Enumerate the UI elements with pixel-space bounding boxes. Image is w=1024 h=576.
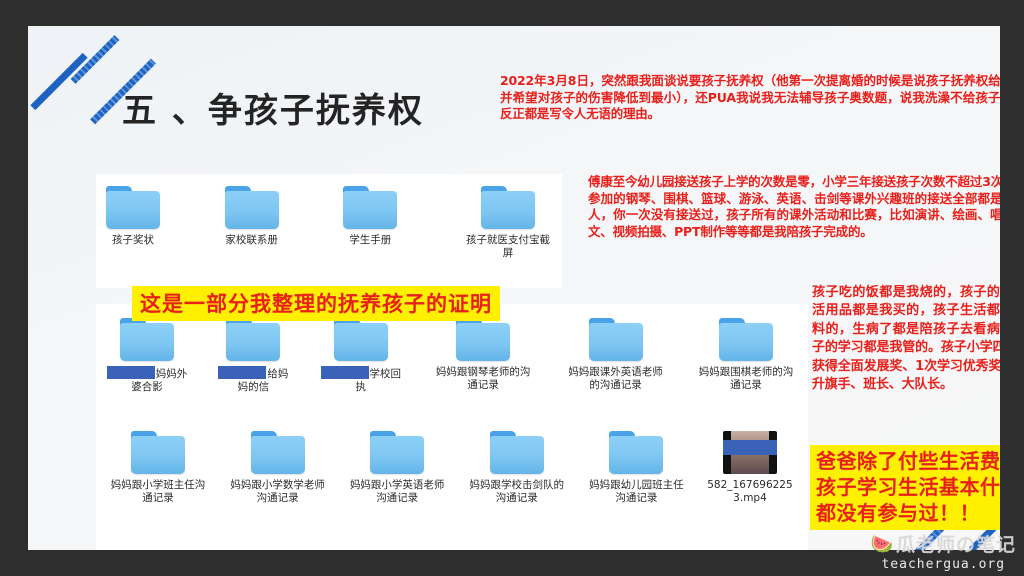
folder-icon — [589, 318, 643, 361]
file-label: 妈妈跟小学英语老师沟通记录 — [345, 479, 449, 505]
folder-icon — [334, 318, 388, 361]
folder-body — [106, 191, 160, 229]
folder-body — [456, 323, 510, 361]
folder-body — [609, 436, 663, 474]
folder-body — [343, 191, 397, 229]
file-label: 妈妈跟学校击剑队的沟通记录 — [465, 479, 569, 505]
file-label: 582_1676962253.mp4 — [704, 479, 796, 505]
page-title: 五 、争孩子抚养权 — [122, 83, 424, 132]
file-label: 学生手册 — [349, 234, 391, 247]
file-item-folder[interactable]: 给妈妈的信 — [216, 318, 290, 394]
highlight-bottom: 爸爸除了付些生活费，孩子学习生活基本什么都没有参与过！！ — [810, 445, 1000, 530]
file-row-3: 妈妈跟小学班主任沟通记录妈妈跟小学数学老师沟通记录妈妈跟小学英语老师沟通记录妈妈… — [106, 431, 796, 505]
file-label: 妈妈外婆合影 — [106, 366, 188, 394]
watermelon-icon: 🍉 — [871, 535, 893, 553]
folder-body — [589, 323, 643, 361]
folder-body — [370, 436, 424, 474]
slide-canvas: 五 、争孩子抚养权 2022年3月8日，突然跟我面谈说要孩子抚养权（他第一次提离… — [28, 26, 1000, 550]
watermark-name: 瓜老师の笔记 — [896, 530, 1016, 557]
decorative-stripe-icon — [30, 53, 87, 110]
file-item-folder[interactable]: 家校联系册 — [225, 186, 279, 260]
folder-icon — [490, 431, 544, 474]
file-label: 妈妈跟围棋老师的沟通记录 — [696, 366, 796, 392]
folder-body — [251, 436, 305, 474]
annotation-note-2: 傅康至今幼儿园接送孩子上学的次数是零，小学三年接送孩子次数不超过3次，孩子参加的… — [588, 174, 1000, 240]
folder-icon — [131, 431, 185, 474]
folder-body — [226, 323, 280, 361]
redaction-bar — [107, 366, 155, 379]
folder-icon — [120, 318, 174, 361]
file-row-1: 孩子奖状家校联系册学生手册孩子就医支付宝截屏 — [106, 186, 554, 260]
file-item-folder[interactable]: 妈妈跟小学数学老师沟通记录 — [226, 431, 330, 505]
folder-icon — [251, 431, 305, 474]
file-item-folder[interactable]: 学校回执 — [319, 318, 403, 394]
folder-body — [225, 191, 279, 229]
folder-body — [334, 323, 388, 361]
file-item-folder[interactable]: 妈妈跟学校击剑队的沟通记录 — [465, 431, 569, 505]
file-label: 给妈妈的信 — [216, 366, 290, 394]
folder-icon — [225, 186, 279, 229]
highlight-banner: 这是一部分我整理的抚养孩子的证明 — [132, 286, 500, 321]
file-item-folder[interactable]: 妈妈跟课外英语老师的沟通记录 — [564, 318, 668, 394]
file-item-video[interactable]: 582_1676962253.mp4 — [704, 431, 796, 505]
annotation-note-1: 2022年3月8日，突然跟我面谈说要孩子抚养权（他第一次提离婚的时候是说孩子抚养… — [500, 73, 1000, 123]
annotation-note-3: 孩子吃的饭都是我烧的，孩子的学习生活用品都是我买的，孩子生活都是我照料的，生病了… — [812, 284, 1000, 395]
folder-icon — [609, 431, 663, 474]
folder-body — [131, 436, 185, 474]
watermark-url: teachergua.org — [871, 557, 1016, 572]
redaction-bar — [321, 366, 369, 379]
file-label: 妈妈跟钢琴老师的沟通记录 — [431, 366, 535, 392]
file-item-folder[interactable]: 妈妈跟围棋老师的沟通记录 — [696, 318, 796, 394]
file-item-folder[interactable]: 妈妈跟幼儿园班主任沟通记录 — [584, 431, 688, 505]
file-label: 孩子就医支付宝截屏 — [462, 234, 554, 260]
file-item-folder[interactable]: 妈妈跟小学班主任沟通记录 — [106, 431, 210, 505]
file-item-folder[interactable]: 孩子奖状 — [106, 186, 160, 260]
folder-icon — [456, 318, 510, 361]
file-item-folder[interactable]: 妈妈外婆合影 — [106, 318, 188, 394]
folder-icon — [106, 186, 160, 229]
file-label: 家校联系册 — [225, 234, 278, 247]
file-label: 妈妈跟幼儿园班主任沟通记录 — [584, 479, 688, 505]
screenshot-stage: 五 、争孩子抚养权 2022年3月8日，突然跟我面谈说要孩子抚养权（他第一次提离… — [0, 0, 1024, 576]
file-item-folder[interactable]: 学生手册 — [343, 186, 397, 260]
watermark: 🍉 瓜老师の笔记 teachergua.org — [871, 530, 1016, 572]
folder-icon — [226, 318, 280, 361]
folder-icon — [370, 431, 424, 474]
folder-body — [120, 323, 174, 361]
folder-body — [490, 436, 544, 474]
video-thumbnail-icon — [723, 431, 777, 474]
redaction-bar — [723, 440, 777, 455]
file-label: 妈妈跟课外英语老师的沟通记录 — [564, 366, 668, 392]
file-item-folder[interactable]: 妈妈跟钢琴老师的沟通记录 — [431, 318, 535, 394]
file-label: 孩子奖状 — [112, 234, 154, 247]
folder-body — [719, 323, 773, 361]
file-row-2: 妈妈外婆合影给妈妈的信学校回执妈妈跟钢琴老师的沟通记录妈妈跟课外英语老师的沟通记… — [106, 318, 796, 394]
file-item-folder[interactable]: 孩子就医支付宝截屏 — [462, 186, 554, 260]
file-label: 妈妈跟小学班主任沟通记录 — [106, 479, 210, 505]
folder-icon — [343, 186, 397, 229]
file-item-folder[interactable]: 妈妈跟小学英语老师沟通记录 — [345, 431, 449, 505]
folder-icon — [481, 186, 535, 229]
folder-body — [481, 191, 535, 229]
redaction-bar — [218, 366, 266, 379]
file-label: 妈妈跟小学数学老师沟通记录 — [226, 479, 330, 505]
file-label: 学校回执 — [319, 366, 403, 394]
folder-icon — [719, 318, 773, 361]
